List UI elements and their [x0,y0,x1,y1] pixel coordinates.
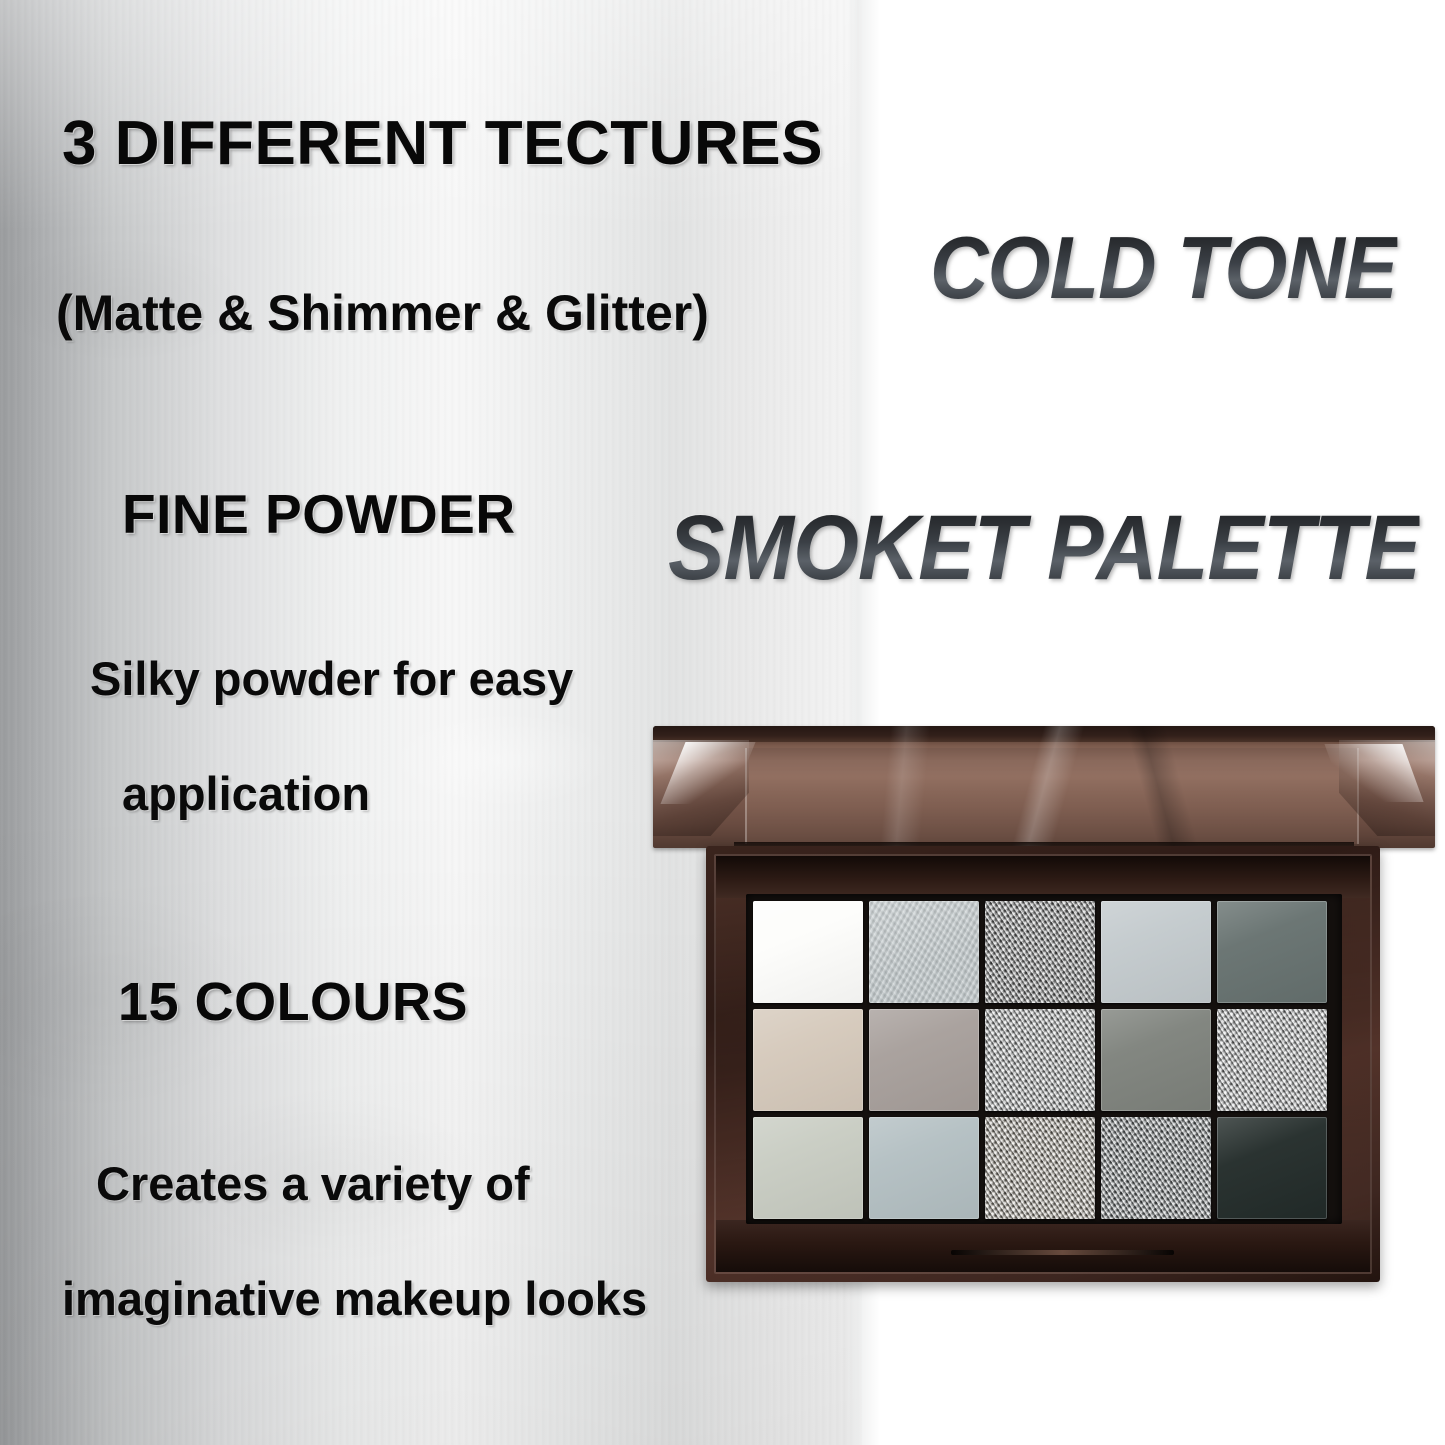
colours-count-heading: 15 COLOURS [118,975,468,1029]
case-top-band [716,856,1370,898]
shade-pan-champagne-glitter [985,1117,1095,1219]
shade-pan-cool-ash [1101,901,1211,1003]
lid-reflection-streaks [653,726,1435,848]
fine-powder-detail-line-1: Silky powder for easy [90,655,573,702]
colours-detail-line-2: imaginative makeup looks [62,1275,647,1322]
eyeshadow-palette-product [648,722,1438,1287]
palette-case [706,846,1380,1282]
shade-pan-bright-silver [985,1009,1095,1111]
shade-pan-midnight-black [1217,1117,1327,1219]
shade-pan-slate-smoke [1217,901,1327,1003]
textures-heading: 3 DIFFERENT TECTURES [62,113,823,175]
shade-pan-silver-frost [869,901,979,1003]
shade-pan-mushroom-taupe [869,1009,979,1111]
shade-pan-steel-sparkle [985,901,1095,1003]
product-feature-poster: 3 DIFFERENT TECTURES (Matte & Shimmer & … [0,0,1445,1445]
shade-pan-gunmetal-glitter [1101,1117,1211,1219]
pan-tray [746,894,1342,1224]
textures-detail: (Matte & Shimmer & Glitter) [56,288,709,338]
shade-grid [753,901,1327,1219]
shade-pan-pale-sage [753,1117,863,1219]
shade-pan-chrome-foil [1217,1009,1327,1111]
fine-powder-heading: FINE POWDER [122,487,516,542]
cold-tone-label: COLD TONE [930,224,1397,312]
fine-powder-detail-line-2: application [122,770,370,817]
colours-detail-line-1: Creates a variety of [96,1160,530,1207]
shade-pan-stone-grey [1101,1009,1211,1111]
shade-pan-optic-white [753,901,863,1003]
case-bottom-band [716,1220,1370,1272]
product-name-heading: SMOKET PALETTE [668,502,1420,594]
shade-pan-misty-blue [869,1117,979,1219]
palette-lid [653,726,1435,848]
shade-pan-warm-sand [753,1009,863,1111]
